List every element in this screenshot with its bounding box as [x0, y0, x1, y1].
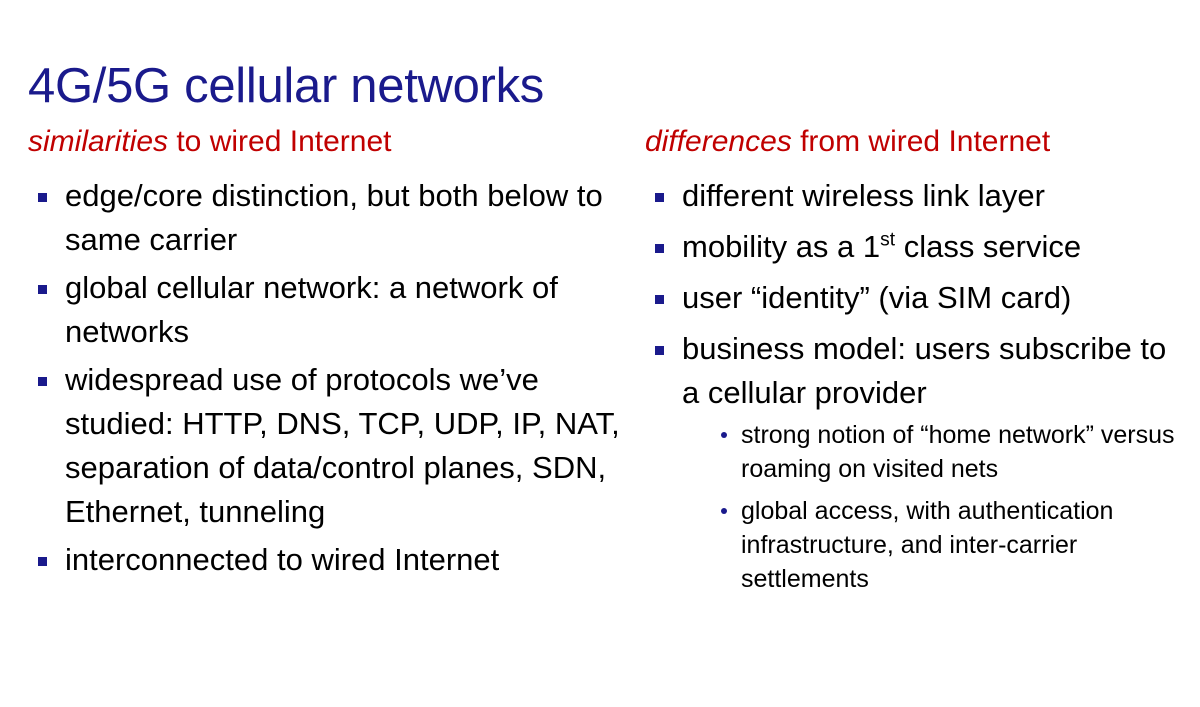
square-bullet-icon	[655, 346, 664, 355]
slide-canvas: 4G/5G cellular networks similarities to …	[0, 0, 1200, 707]
list-item-label: edge/core distinction, but both below to…	[65, 178, 603, 257]
list-item: user “identity” (via SIM card)	[645, 276, 1190, 320]
ordinal-suffix: st	[880, 230, 895, 251]
differences-heading-emphasis: differences	[645, 125, 792, 158]
list-item-label: strong notion of “home network” versus r…	[741, 421, 1175, 483]
differences-column: differences from wired Internet differen…	[645, 122, 1190, 604]
round-bullet-icon	[721, 432, 727, 438]
square-bullet-icon	[38, 557, 47, 566]
square-bullet-icon	[38, 193, 47, 202]
square-bullet-icon	[38, 285, 47, 294]
list-item: global access, with authentication infra…	[715, 494, 1190, 596]
differences-sub-bullet-list: strong notion of “home network” versus r…	[682, 418, 1190, 596]
list-item-label: user “identity” (via SIM card)	[682, 280, 1071, 315]
list-item-label-tail: class service	[895, 229, 1081, 264]
list-item: different wireless link layer	[645, 174, 1190, 218]
similarities-heading-rest: to wired Internet	[168, 125, 391, 158]
square-bullet-icon	[38, 377, 47, 386]
differences-heading-rest: from wired Internet	[792, 125, 1050, 158]
list-item: strong notion of “home network” versus r…	[715, 418, 1190, 486]
list-item-label: global cellular network: a network of ne…	[65, 270, 558, 349]
list-item-label: interconnected to wired Internet	[65, 542, 499, 577]
list-item: interconnected to wired Internet	[28, 538, 628, 582]
list-item-label: different wireless link layer	[682, 178, 1045, 213]
square-bullet-icon	[655, 295, 664, 304]
similarities-column: similarities to wired Internet edge/core…	[28, 122, 628, 586]
list-item: business model: users subscribe to a cel…	[645, 327, 1190, 596]
square-bullet-icon	[655, 244, 664, 253]
list-item: global cellular network: a network of ne…	[28, 266, 628, 354]
similarities-bullet-list: edge/core distinction, but both below to…	[28, 174, 628, 582]
list-item-label: mobility as a 1	[682, 229, 880, 264]
similarities-heading-emphasis: similarities	[28, 125, 168, 158]
page-title: 4G/5G cellular networks	[28, 55, 544, 117]
differences-bullet-list: different wireless link layer mobility a…	[645, 174, 1190, 596]
similarities-heading: similarities to wired Internet	[28, 122, 628, 162]
round-bullet-icon	[721, 508, 727, 514]
list-item: mobility as a 1st class service	[645, 225, 1190, 269]
list-item: widespread use of protocols we’ve studie…	[28, 358, 628, 534]
list-item-label: business model: users subscribe to a cel…	[682, 331, 1166, 410]
list-item: edge/core distinction, but both below to…	[28, 174, 628, 262]
list-item-label: widespread use of protocols we’ve studie…	[65, 362, 620, 529]
list-item-label: global access, with authentication infra…	[741, 497, 1113, 593]
differences-heading: differences from wired Internet	[645, 122, 1190, 162]
square-bullet-icon	[655, 193, 664, 202]
